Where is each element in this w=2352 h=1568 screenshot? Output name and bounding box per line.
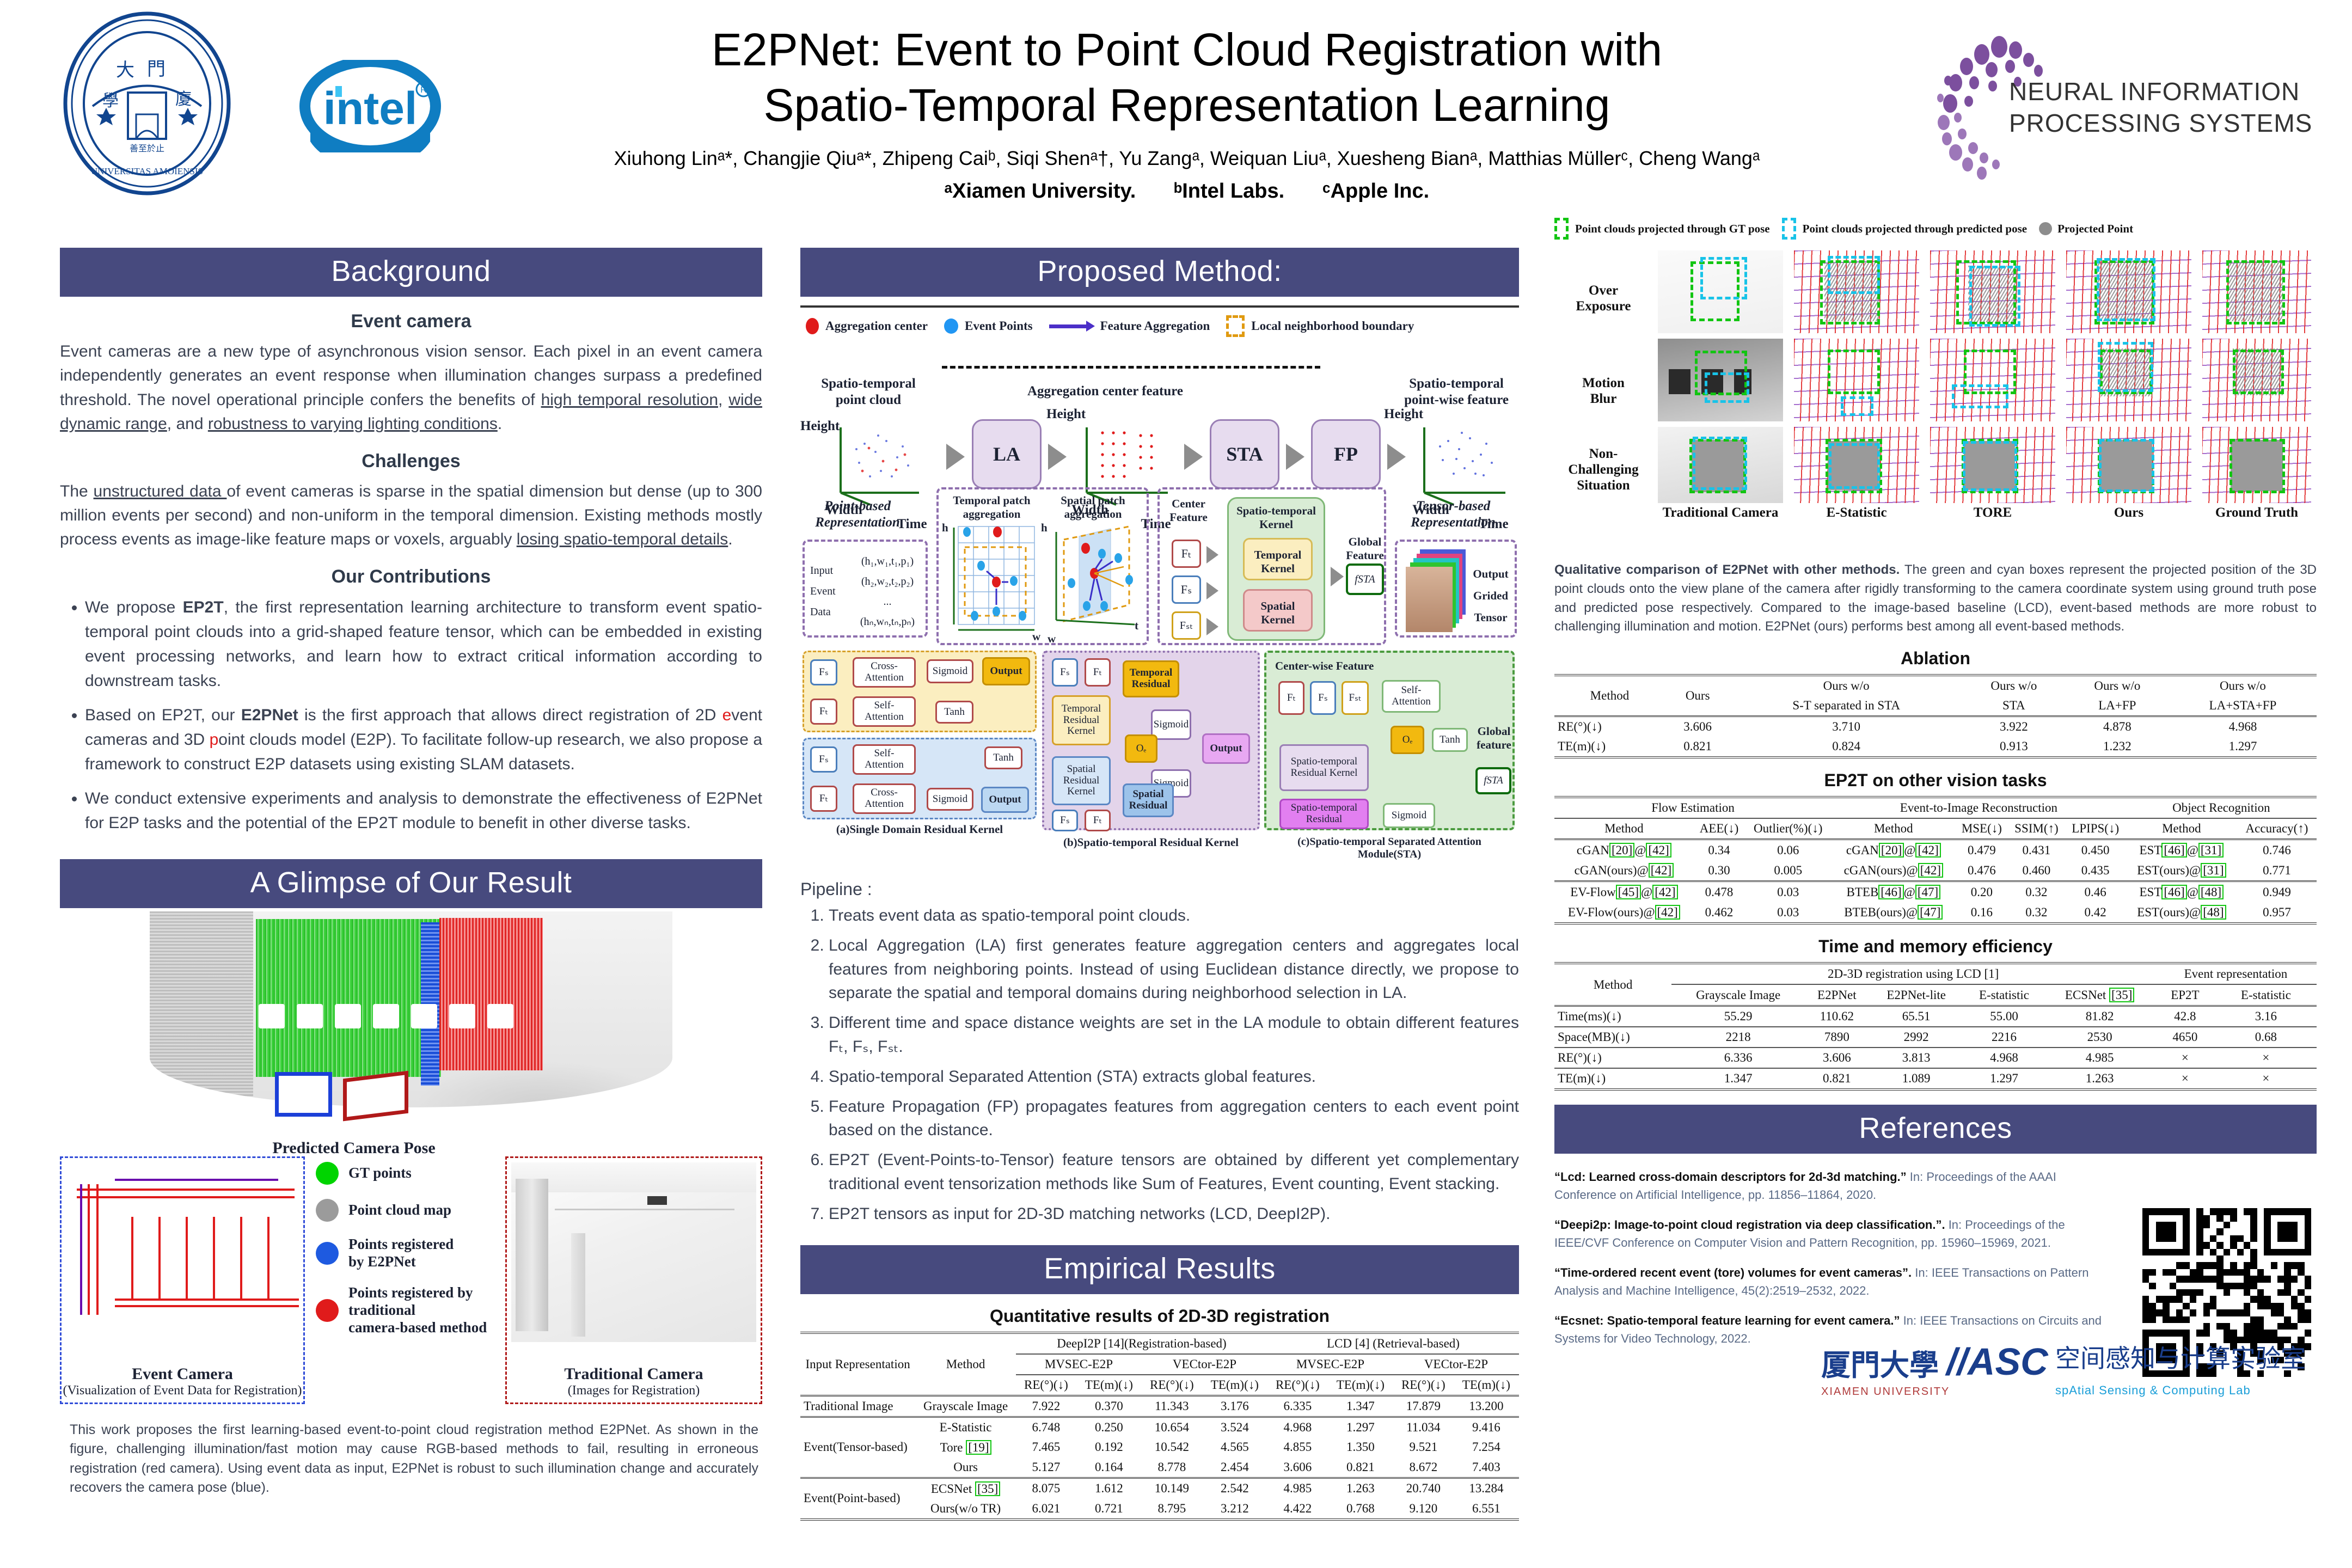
column-header: AEE(↓) [1694,818,1745,840]
c-oe-box: Oₑ [1391,726,1424,754]
method-legend: Aggregation center Event Points Feature … [806,315,1514,337]
qual-r1-ground-truth [2202,250,2311,333]
col-label-e-statistic: E-Statistic [1794,505,1919,520]
cell-value: 3.606 [1665,716,1731,737]
cell-method: ECSNet [35] [915,1478,1016,1499]
cell-value: 7.254 [1454,1437,1519,1457]
citation-ref: [42] [1649,863,1674,878]
section-banner-empirical-results: Empirical Results [800,1245,1519,1294]
citation-ref: [31] [2198,843,2224,857]
column-header: E-statistic [1964,984,2045,1006]
cell-value: 0.768 [1328,1499,1393,1520]
legend-item-traditional-points: Points registered by traditional camera-… [316,1284,495,1337]
affiliation-b: ᵇIntel Labs. [1174,180,1284,203]
cell-value: 3.922 [1962,716,2066,737]
cell-value: 0.68 [2215,1027,2317,1048]
input-label-3: Data [810,602,848,622]
input-event-data-panel: Input Event Data (h₁,w₁,t₁,p₁) (h₂,w₂,t₂… [803,540,928,638]
citation-ref: [47] [1915,885,1940,899]
references-list: “Lcd: Learned cross-domain descriptors f… [1554,1154,2121,1347]
temporal-patch-grid-diagram [948,523,1041,638]
cell-value: 0.005 [1744,860,1832,881]
th-mvsec-lcd: MVSEC-E2P [1267,1354,1393,1375]
legend-label-trad-l1: Points registered by [348,1284,487,1302]
qualitative-note: Qualitative comparison of E2PNet with ot… [1554,561,2317,636]
pipeline-item-4: Spatio-temporal Separated Attention (STA… [829,1065,1519,1089]
cell-value: 2530 [2044,1027,2155,1048]
poster-title-line-2: Spatio-Temporal Representation Learning [468,77,1906,133]
qualitative-comparison-figure: Point clouds projected through GT pose P… [1554,218,2317,555]
c-tanh-box: Tanh [1432,728,1468,752]
ab-th-ours: Ours [1665,675,1731,716]
c2b: E2PNet [241,706,298,724]
b-ft-box-top: Fₜ [1085,658,1111,687]
cell-value: 0.06 [1744,840,1832,861]
flow-arrow-3 [1184,444,1203,470]
cell-value: EST(ours)@[48] [2126,902,2237,923]
cell-value: 7890 [1805,1027,1869,1048]
b-fs-box-top: Fₛ [1052,658,1078,687]
table-time-memory-efficiency: Method 2D-3D registration using LCD [1] … [1554,962,2317,1091]
label-height-left: Height [800,418,826,434]
cell-value: 0.46 [2065,881,2126,903]
cell-value: 2216 [1964,1027,2045,1048]
input-label-1: Input [810,560,848,581]
svg-text:R: R [420,85,427,95]
reference-item: “Time-ordered recent event (tore) volume… [1554,1264,2121,1300]
cell-value: 0.462 [1694,902,1745,923]
table-row: TE(m)(↓)1.3470.8211.0891.2971.263×× [1554,1068,2317,1089]
qual-r3-tore [1930,427,2055,503]
flow-arrow-1 [946,444,965,470]
c-sigmoid-box: Sigmoid [1383,803,1435,828]
label-w-temporal: w [1032,630,1040,644]
a-self-attention-box: Self-Attention [853,696,916,727]
glimpse-bottom-row: Event Camera (Visualization of Event Dat… [60,1156,762,1412]
legend-label-predicted-pose: Point clouds projected through predicted… [1803,222,2027,236]
col-label-ours: Ours [2066,505,2191,520]
c-fs-box: Fₛ [1310,681,1336,715]
ab-th-c2-top: Ours w/o [1730,675,1962,696]
cell-value: 1.297 [1328,1417,1393,1437]
spatio-temporal-residual-kernel-panel: Fₛ Fₜ TemporalResidualKernel TemporalRes… [1042,651,1260,830]
label-w-spatial: w [1048,632,1056,646]
predicted-camera-frustum-blue [275,1072,332,1117]
other-tasks-subheader-row: MethodAEE(↓)Outlier(%)(↓)MethodMSE(↓)SSI… [1554,818,2317,840]
citation-ref: [42] [1646,843,1671,857]
qual-r3-ground-truth [2202,427,2311,503]
title-block: E2PNet: Event to Point Cloud Registratio… [468,22,1906,203]
th-metric-2: TE(m)(↓) [1076,1375,1142,1396]
a2-output-box: Output [981,787,1029,813]
cell-value: 9.521 [1393,1437,1454,1457]
pipeline-list: Treats event data as spatio-temporal poi… [800,904,1519,1226]
reference-title: “Time-ordered recent event (tore) volume… [1554,1266,1912,1279]
b-fs-box-bottom: Fₛ [1052,810,1078,831]
contributions-list: We propose EP2T, the first representatio… [60,595,762,835]
table-row: Event(Tensor-based)E-Statistic6.7480.250… [800,1417,1519,1437]
point-cloud-scene-image [150,911,672,1107]
table-other-vision-tasks: Flow Estimation Event-to-Image Reconstru… [1554,796,2317,924]
cell-value: 4.968 [2169,716,2317,737]
column-header: Outlier(%)(↓) [1744,818,1832,840]
caption-a: (a)Single Domain Residual Kernel [803,823,1037,836]
citation-ref: [48] [2201,905,2226,920]
qual-r2-ours [2066,339,2191,421]
cell-value: 6.335 [1267,1395,1328,1417]
event-points-dot-icon [944,318,958,334]
citation-ref: [20] [1609,843,1634,857]
traditional-camera-caption-sub: (Images for Registration) [507,1383,761,1398]
input-row-1: (h₁,w₁,t₁,p₁) [849,552,926,572]
contribution-item-1: We propose EP2T, the first representatio… [85,595,762,693]
contribution-item-2: Based on EP2T, our E2PNet is the first a… [85,703,762,776]
cell-value: 4.855 [1267,1437,1328,1457]
label-input-point-cloud: Spatio-temporal point cloud [806,376,931,408]
intel-logo: intel R [283,60,457,152]
th-mvsec-deepi2p: MVSEC-E2P [1016,1354,1142,1375]
cell-value: 6.021 [1016,1499,1076,1520]
row-label: TE(m)(↓) [1554,737,1665,757]
ec-t4: . [498,415,502,433]
label-height-center: Height [1046,406,1078,422]
table-row: EV-Flow[45]@[42]0.4780.03BTEB[46]@[47]0.… [1554,881,2317,903]
lab-logos: 厦門大學 XIAMEN UNIVERSITY //ASC 空间感知与计算实验室 … [1821,1333,2311,1415]
cell-value: 4.565 [1202,1437,1267,1457]
column-middle: Proposed Method: Aggregation center Even… [800,248,1519,1521]
traditional-camera-caption: Traditional Camera (Images for Registrat… [507,1365,761,1398]
a-fs-box: Fₛ [810,659,837,685]
pipeline-item-7: EP2T tensors as input for 2D-3D matching… [829,1202,1519,1226]
cell-value: 1.297 [2169,737,2317,757]
b-ft-box-bottom: Fₜ [1085,810,1111,831]
section-banner-references: References [1554,1105,2317,1154]
grided-tensor-stack-image [1406,549,1460,626]
cell-value: × [2155,1068,2215,1089]
cell-value: 3.710 [1730,716,1962,737]
poster-header: UNIVERSITAS AMOIENSIS 大 門 學 廈 善至於止 intel… [0,0,2352,218]
scene-window-4 [373,1004,399,1028]
point-cloud-traditional-red [439,918,543,1070]
column-header: E-statistic [2215,984,2317,1006]
cell-value: 10.542 [1142,1437,1202,1457]
ab-th-method: Method [1554,675,1665,716]
skip-connection-dashed-line [942,366,1320,369]
label-height-right: Height [1384,406,1416,422]
cell-value: cGAN(ours)@[42] [1832,860,1955,881]
cell-value: 0.746 [2237,840,2317,861]
cell-value: 0.435 [2065,860,2126,881]
table-row: Event(Point-based)ECSNet [35]8.0751.6121… [800,1478,1519,1499]
citation-ref: [35] [2109,988,2134,1002]
feature-ft-box: Fₜ [1172,540,1201,568]
c2e: e [722,706,732,724]
ch-u1: unstructured data [94,482,227,500]
cell-value: 55.00 [1964,1006,2045,1027]
ot-th-recon: Event-to-Image Reconstruction [1832,797,2126,818]
qual-r2-ground-truth [2202,339,2311,421]
cell-value: 0.192 [1076,1437,1142,1457]
input-label-2: Event [810,581,848,602]
cell-value: 9.120 [1393,1499,1454,1520]
column-header: Method [1554,818,1694,840]
event-camera-caption-sub: (Visualization of Event Data for Registr… [62,1383,303,1398]
table-title-quantitative: Quantitative results of 2D-3D registrati… [800,1306,1519,1326]
ec-u3: robustness to varying lighting condition… [208,415,498,433]
poster-title-line-1: E2PNet: Event to Point Cloud Registratio… [468,22,1906,77]
feature-fst-box: Fₛₜ [1172,611,1201,640]
pipeline-item-5: Feature Propagation (FP) propagates feat… [829,1095,1519,1143]
qual-r2-traditional-camera [1658,339,1783,421]
point-cloud-map-grey [150,911,253,1097]
xiamen-university-seal-logo: UNIVERSITAS AMOIENSIS 大 門 學 廈 善至於止 [54,11,240,196]
table-title-other-tasks: EP2T on other vision tasks [1554,770,2317,791]
cell-value: 0.42 [2065,902,2126,923]
traditional-camera-panel: Traditional Camera (Images for Registrat… [505,1156,762,1404]
svg-text:善至於止: 善至於止 [130,143,164,154]
tm-th-method: Method [1554,963,1671,1006]
cell-method: E-Statistic [915,1417,1016,1437]
ab-th-c2-bot: S-T separated in STA [1730,696,1962,716]
pipeline-item-2: Local Aggregation (LA) first generates f… [829,934,1519,1005]
asc-lab-english-name: spAtial Sensing & Computing Lab [2055,1383,2251,1398]
cell-value: 0.476 [1956,860,2008,881]
neurips-line-1: NEURAL INFORMATION [2009,76,2312,108]
cell-value: 42.8 [2155,1006,2215,1027]
cell-value: 7.403 [1454,1457,1519,1478]
cell-value: 0.771 [2237,860,2317,881]
column-left: Background Event camera Event cameras ar… [60,248,762,1271]
c2c: is the first approach that allows direct… [298,706,722,724]
table-body-other-tasks: cGAN[20]@[42]0.340.06cGAN[20]@[42]0.4790… [1554,840,2317,924]
method-figure: Aggregation center Event Points Feature … [800,305,1519,872]
cell-value: 6.336 [1671,1048,1805,1068]
fsta-output-box: fSTA [1346,563,1384,595]
cell-value: EV-Flow[45]@[42] [1554,881,1694,903]
th-method: Method [915,1333,1016,1396]
cell-value: 1.263 [1328,1478,1393,1499]
col-label-traditional-camera: Traditional Camera [1641,505,1799,520]
row-group-label: Traditional Image [800,1395,915,1417]
method-sub-panels: Point-based Representation Input Event D… [800,487,1519,651]
table-row: Space(MB)(↓)2218789029922216253046500.68 [1554,1027,2317,1048]
center-wise-feature-label: Center-wise Feature [1275,659,1417,673]
svg-text:門: 門 [147,58,166,80]
temporal-patch-label-2: aggregation [944,507,1039,521]
column-header: Grayscale Image [1671,984,1805,1006]
row-label: Time(ms)(↓) [1554,1006,1671,1027]
qual-r2-e-statistic [1794,339,1919,421]
cell-value: 1.232 [2066,737,2169,757]
cell-value: BTEB(ours)@[47] [1832,902,1955,923]
temporal-patch-label-1: Temporal patch [944,494,1039,507]
c-fst-box: Fₛₜ [1342,681,1369,715]
table-body-quantitative: Traditional ImageGrayscale Image7.9220.3… [800,1395,1519,1520]
legend-label-feature-aggregation: Feature Aggregation [1100,319,1210,333]
sta-module-panel: Center-wise Feature Fₜ Fₛ Fₛₜ Self-Atten… [1264,651,1515,830]
qual-r2-tore [1930,339,2055,421]
scene-window-7 [487,1004,513,1028]
cell-value: 0.957 [2237,902,2317,923]
a-output-box: Output [982,657,1030,685]
feature-aggregation-arrow-icon [1049,324,1087,328]
ot-th-flow: Flow Estimation [1554,797,1832,818]
cell-value: 0.20 [1956,881,2008,903]
label-t-spatial: t [1135,619,1138,633]
row-label: Space(MB)(↓) [1554,1027,1671,1048]
affiliation-c: ᶜApple Inc. [1322,180,1429,203]
legend-feature-aggregation: Feature Aggregation [1049,319,1210,333]
gt-points-dot-icon [316,1162,339,1185]
legend-event-points: Event Points [944,318,1033,334]
cell-value: cGAN[20]@[42] [1832,840,1955,861]
caption-c: (c)Spatio-temporal Separated Attention M… [1266,836,1512,861]
th-input-representation: Input Representation [800,1333,915,1396]
cell-value: 7.465 [1016,1437,1076,1457]
row-label: TE(m)(↓) [1554,1068,1671,1089]
qual-note-bold: Qualitative comparison of E2PNet with ot… [1554,562,1900,577]
gt-pose-box-icon [1554,218,1569,240]
cell-value: 8.778 [1142,1457,1202,1478]
predicted-camera-pose-label: Predicted Camera Pose [240,1139,468,1157]
legend-label-event-points: Event Points [965,319,1033,333]
a2-cross-attention-box: Cross-Attention [853,783,916,814]
th-vector-lcd: VECtor-E2P [1393,1354,1519,1375]
svg-text:廈: 廈 [175,90,192,109]
cell-value: 0.03 [1744,902,1832,923]
global-feature-label-1: Global [1344,535,1386,549]
legend-item-e2pnet-points: Points registered by E2PNet [316,1236,495,1271]
output-tensor-panel: Output Grided Tensor [1395,540,1517,638]
reference-title: “Ecsnet: Spatio-temporal feature learnin… [1554,1314,1900,1327]
citation-ref: [45] [1616,885,1641,899]
cell-value: 6.551 [1454,1499,1519,1520]
label-h-spatial: h [1041,521,1048,535]
cell-value: 4.985 [1267,1478,1328,1499]
column-header: MSE(↓) [1956,818,2008,840]
citation-ref: [46] [2161,885,2186,899]
cell-value: 17.879 [1393,1395,1454,1417]
predicted-pose-box-icon [1782,218,1796,240]
cell-value: 0.370 [1076,1395,1142,1417]
c-st-residual-kernel-box: Spatio-temporalResidual Kernel [1279,744,1369,791]
ab-th-c3-top: Ours w/o [1962,675,2066,696]
cell-value: 1.263 [2044,1068,2155,1089]
legend-item-point-cloud-map: Point cloud map [316,1199,495,1222]
section-banner-background: Background [60,248,762,297]
cell-value: 10.149 [1142,1478,1202,1499]
column-header: EP2T [2155,984,2215,1006]
b-spatial-residual-kernel-box: SpatialResidualKernel [1052,756,1111,805]
reference-item: “Deepi2p: Image-to-point cloud registrat… [1554,1216,2121,1252]
event-camera-panel: Event Camera (Visualization of Event Dat… [60,1156,305,1404]
qualitative-legend: Point clouds projected through GT pose P… [1554,218,2317,240]
cell-value: 5.127 [1016,1457,1076,1478]
author-list: Xiuhong Linᵃ*, Changjie Qiuᵃ*, Zhipeng C… [468,145,1906,172]
st-kernel-label-1: Spatio-temporal [1229,504,1324,518]
cell-value: 0.460 [2008,860,2065,881]
cell-value: 6.748 [1016,1417,1076,1437]
c-fsta-box: fSTA [1475,767,1511,794]
qual-r3-ours [2066,427,2191,503]
row-group-label: Event(Tensor-based) [800,1417,915,1478]
a2-sigmoid-box: Sigmoid [927,788,973,811]
cell-value: 7.922 [1016,1395,1076,1417]
cell-value: 0.949 [2237,881,2317,903]
pipeline-item-6: EP2T (Event-Points-to-Tensor) feature te… [829,1148,1519,1196]
ec-t2: , [718,391,728,409]
label-tensor-based-representation: Tensor-based Representation [1401,498,1505,531]
cell-value: EST[46]@[48] [2126,881,2237,903]
cell-value: 4.968 [1267,1417,1328,1437]
affiliation-a: ᵃXiamen University. [945,180,1136,203]
citation-ref: [31] [2201,863,2226,878]
cell-value: 0.431 [2008,840,2065,861]
cell-value: 0.478 [1694,881,1745,903]
erroneous-camera-frustum-red [343,1070,408,1121]
cell-value: 4650 [2155,1027,2215,1048]
center-feature-label-2: Feature [1164,511,1213,524]
ch-u2: losing spatio-temporal details [517,530,728,548]
table-ablation: Method Ours Ours w/o Ours w/o Ours w/o O… [1554,674,2317,758]
cell-value: 8.075 [1016,1478,1076,1499]
pipeline-item-3: Different time and space distance weight… [829,1011,1519,1059]
cell-value: 3.606 [1805,1048,1869,1068]
legend-label-gt-points: GT points [348,1165,412,1182]
citation-ref: [42] [1918,863,1943,878]
cell-value: 2.454 [1202,1457,1267,1478]
event-camera-visualization [66,1162,299,1342]
glimpse-note-text: This work proposes the first learning-ba… [70,1420,758,1498]
th-vector-deepi2p: VECtor-E2P [1142,1354,1267,1375]
row-label: RE(°)(↓) [1554,716,1665,737]
c1b: EP2T [183,598,224,616]
spatial-patch-label-1: Spatial patch [1045,494,1141,507]
ab-th-c4-bot: LA+FP [2066,696,2169,716]
reference-item: “Lcd: Learned cross-domain descriptors f… [1554,1168,2121,1204]
b-sigmoid-top: Sigmoid [1151,709,1191,740]
th-metric-7: RE(°)(↓) [1393,1375,1454,1396]
column-header: Accuracy(↑) [2237,818,2317,840]
citation-ref: [42] [1655,905,1680,920]
spatio-temporal-kernel-box: Spatio-temporal Kernel Temporal Kernel S… [1227,497,1325,641]
c1a: We propose [85,598,183,616]
cell-method: Tore [19] [915,1437,1016,1457]
table-title-ablation: Ablation [1554,648,2317,669]
cell-value: 1.347 [1671,1068,1805,1089]
cell-value: × [2215,1048,2317,1068]
legend-label-e2pnet-l2: by E2PNet [348,1253,454,1271]
paragraph-event-camera: Event cameras are a new type of asynchro… [60,340,762,437]
xiamen-university-chinese-wordmark: 厦門大學 [1821,1341,1939,1384]
tm-th-group-lcd: 2D-3D registration using LCD [1] [1671,963,2155,984]
scene-window-3 [335,1004,361,1028]
row-label-non-challenging: Non- Challenging Situation [1554,446,1652,493]
cell-value: 4.422 [1267,1499,1328,1520]
neurips-wordmark: NEURAL INFORMATION PROCESSING SYSTEMS [2009,76,2312,139]
citation-ref: [46] [1878,885,1903,899]
table-row: EV-Flow(ours)@[42]0.4620.03BTEB(ours)@[4… [1554,902,2317,923]
legend-label-e2pnet-l1: Points registered [348,1236,454,1253]
legend-label-point-cloud-map: Point cloud map [348,1202,451,1219]
point-cloud-gt-green [256,919,441,1077]
traditional-camera-image [511,1162,756,1342]
table-row: Time(ms)(↓)55.29110.6265.5155.0081.8242.… [1554,1006,2317,1027]
cell-value: 81.82 [2044,1006,2155,1027]
cell-value: 0.32 [2008,902,2065,923]
citation-ref: [20] [1879,843,1904,857]
cell-value: 13.284 [1454,1478,1519,1499]
